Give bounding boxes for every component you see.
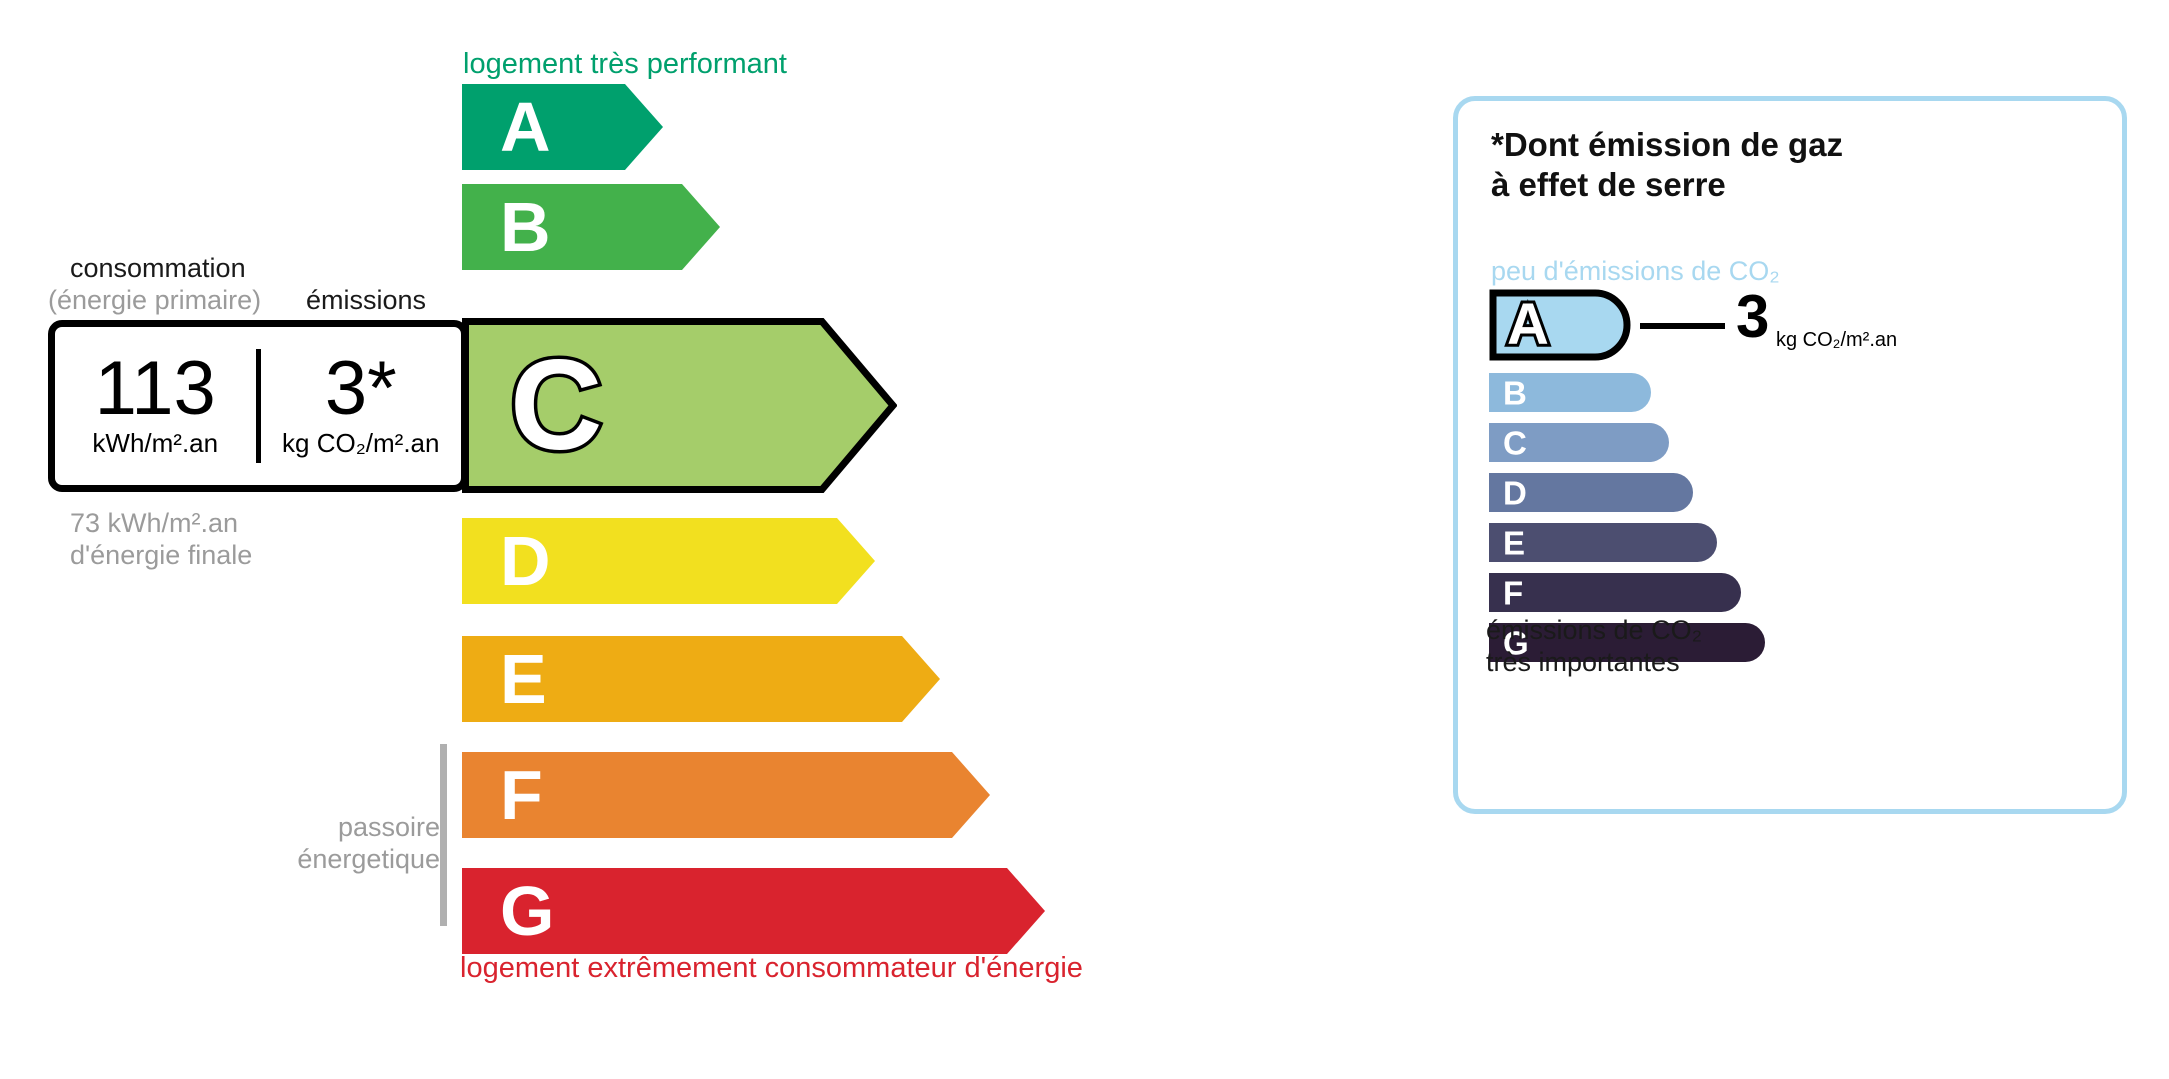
- consumption-unit: kWh/m².an: [92, 428, 218, 459]
- energy-band-F-letter: F: [500, 760, 543, 830]
- co2-panel-title: *Dont émission de gaz à effet de serre: [1491, 125, 1843, 204]
- energy-band-C-letter: C: [510, 342, 602, 470]
- consumption-value: 113: [95, 353, 216, 425]
- co2-rating-badge-A: A: [1489, 289, 1634, 361]
- co2-value: 3: [1736, 287, 1769, 347]
- passoire-bracket: [440, 744, 447, 926]
- co2-bar-D-letter: D: [1503, 476, 1527, 509]
- co2-bar-E: E: [1489, 523, 1717, 562]
- label-consumption: consommation: [70, 253, 246, 284]
- co2-panel: *Dont émission de gaz à effet de serre p…: [1453, 96, 2127, 814]
- energy-band-G-letter: G: [500, 876, 554, 946]
- energy-band-B: B: [462, 184, 720, 270]
- co2-bar-C: C: [1489, 423, 1669, 462]
- emission-cell: 3* kg CO₂/m².an: [261, 327, 462, 485]
- energy-band-B-letter: B: [500, 192, 551, 262]
- passoire-line1: passoire: [280, 812, 440, 844]
- co2-footer-line1: émissions de CO₂: [1486, 615, 1702, 647]
- energy-band-E: E: [462, 636, 940, 722]
- energy-band-D: D: [462, 518, 875, 604]
- emission-unit: kg CO₂/m².an: [282, 428, 439, 459]
- energy-band-A-letter: A: [500, 92, 551, 162]
- rating-value-box: 113 kWh/m².an 3* kg CO₂/m².an: [48, 320, 468, 492]
- energy-band-A: A: [462, 84, 663, 170]
- co2-title-line2: à effet de serre: [1491, 165, 1843, 205]
- consumption-cell: 113 kWh/m².an: [55, 327, 256, 485]
- energy-band-G: G: [462, 868, 1045, 954]
- co2-bar-E-letter: E: [1503, 526, 1525, 559]
- co2-value-unit: kg CO₂/m².an: [1776, 329, 1897, 352]
- energy-band-C-highlighted: C: [462, 318, 897, 493]
- co2-footer-caption: émissions de CO₂ très importantes: [1486, 615, 1702, 679]
- co2-bar-B: B: [1489, 373, 1651, 412]
- label-emissions: émissions: [306, 285, 426, 316]
- co2-bar-B-letter: B: [1503, 376, 1527, 409]
- co2-connector-line: [1640, 323, 1725, 329]
- energy-bottom-caption: logement extrêmement consommateur d'éner…: [460, 952, 1083, 985]
- final-energy-note: 73 kWh/m².an d'énergie finale: [70, 508, 252, 572]
- co2-bar-D: D: [1489, 473, 1693, 512]
- energy-band-E-letter: E: [500, 644, 547, 714]
- energy-scale-panel: logement très performant ABDEFG C consom…: [0, 0, 1400, 1079]
- energy-top-caption: logement très performant: [463, 48, 787, 81]
- final-energy-line1: 73 kWh/m².an: [70, 508, 252, 540]
- energy-band-D-letter: D: [500, 526, 551, 596]
- final-energy-line2: d'énergie finale: [70, 540, 252, 572]
- co2-bar-C-letter: C: [1503, 426, 1527, 459]
- co2-title-line1: *Dont émission de gaz: [1491, 125, 1843, 165]
- co2-bar-F-letter: F: [1503, 576, 1523, 609]
- energy-band-A-shape: [462, 84, 663, 170]
- energy-band-F: F: [462, 752, 990, 838]
- passoire-label: passoire énergetique: [280, 812, 440, 876]
- label-consumption-sub: (énergie primaire): [48, 285, 261, 316]
- co2-footer-line2: très importantes: [1486, 647, 1702, 679]
- passoire-line2: énergetique: [280, 844, 440, 876]
- emission-value: 3*: [325, 353, 397, 425]
- co2-bar-F: F: [1489, 573, 1741, 612]
- co2-badge-letter: A: [1507, 296, 1549, 354]
